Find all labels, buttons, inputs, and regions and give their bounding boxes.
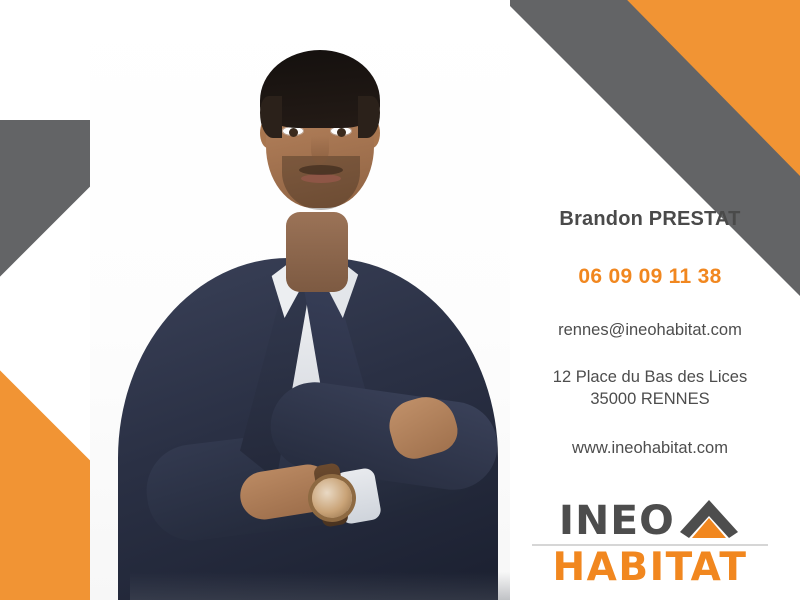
photo-bottom-shadow [130,572,510,600]
contact-name: Brandon PRESTAT [559,208,740,231]
logo-ineo-text: INEO [559,501,675,541]
portrait-photo [90,0,510,600]
contact-info-panel: Brandon PRESTAT 06 09 09 11 38 rennes@in… [500,0,800,600]
neck [286,212,348,292]
address-line-2: 35000 RENNES [553,388,747,410]
logo-habitat-text: HABITAT [553,548,748,589]
mustache [299,165,343,175]
pupil-left [289,128,298,137]
contact-phone[interactable]: 06 09 09 11 38 [578,265,721,289]
mouth [301,174,341,183]
roof-chevron-icon [678,498,740,540]
pupil-right [337,128,346,137]
logo-top-row: INEO [560,498,740,541]
address-line-1: 12 Place du Bas des Lices [553,366,747,388]
contact-email[interactable]: rennes@ineohabitat.com [558,321,742,340]
business-card: Brandon PRESTAT 06 09 09 11 38 rennes@in… [0,0,800,600]
company-logo[interactable]: INEO HABITAT [525,498,775,589]
contact-address: 12 Place du Bas des Lices 35000 RENNES [553,366,747,411]
contact-website[interactable]: www.ineohabitat.com [572,439,728,458]
nose [311,136,329,164]
